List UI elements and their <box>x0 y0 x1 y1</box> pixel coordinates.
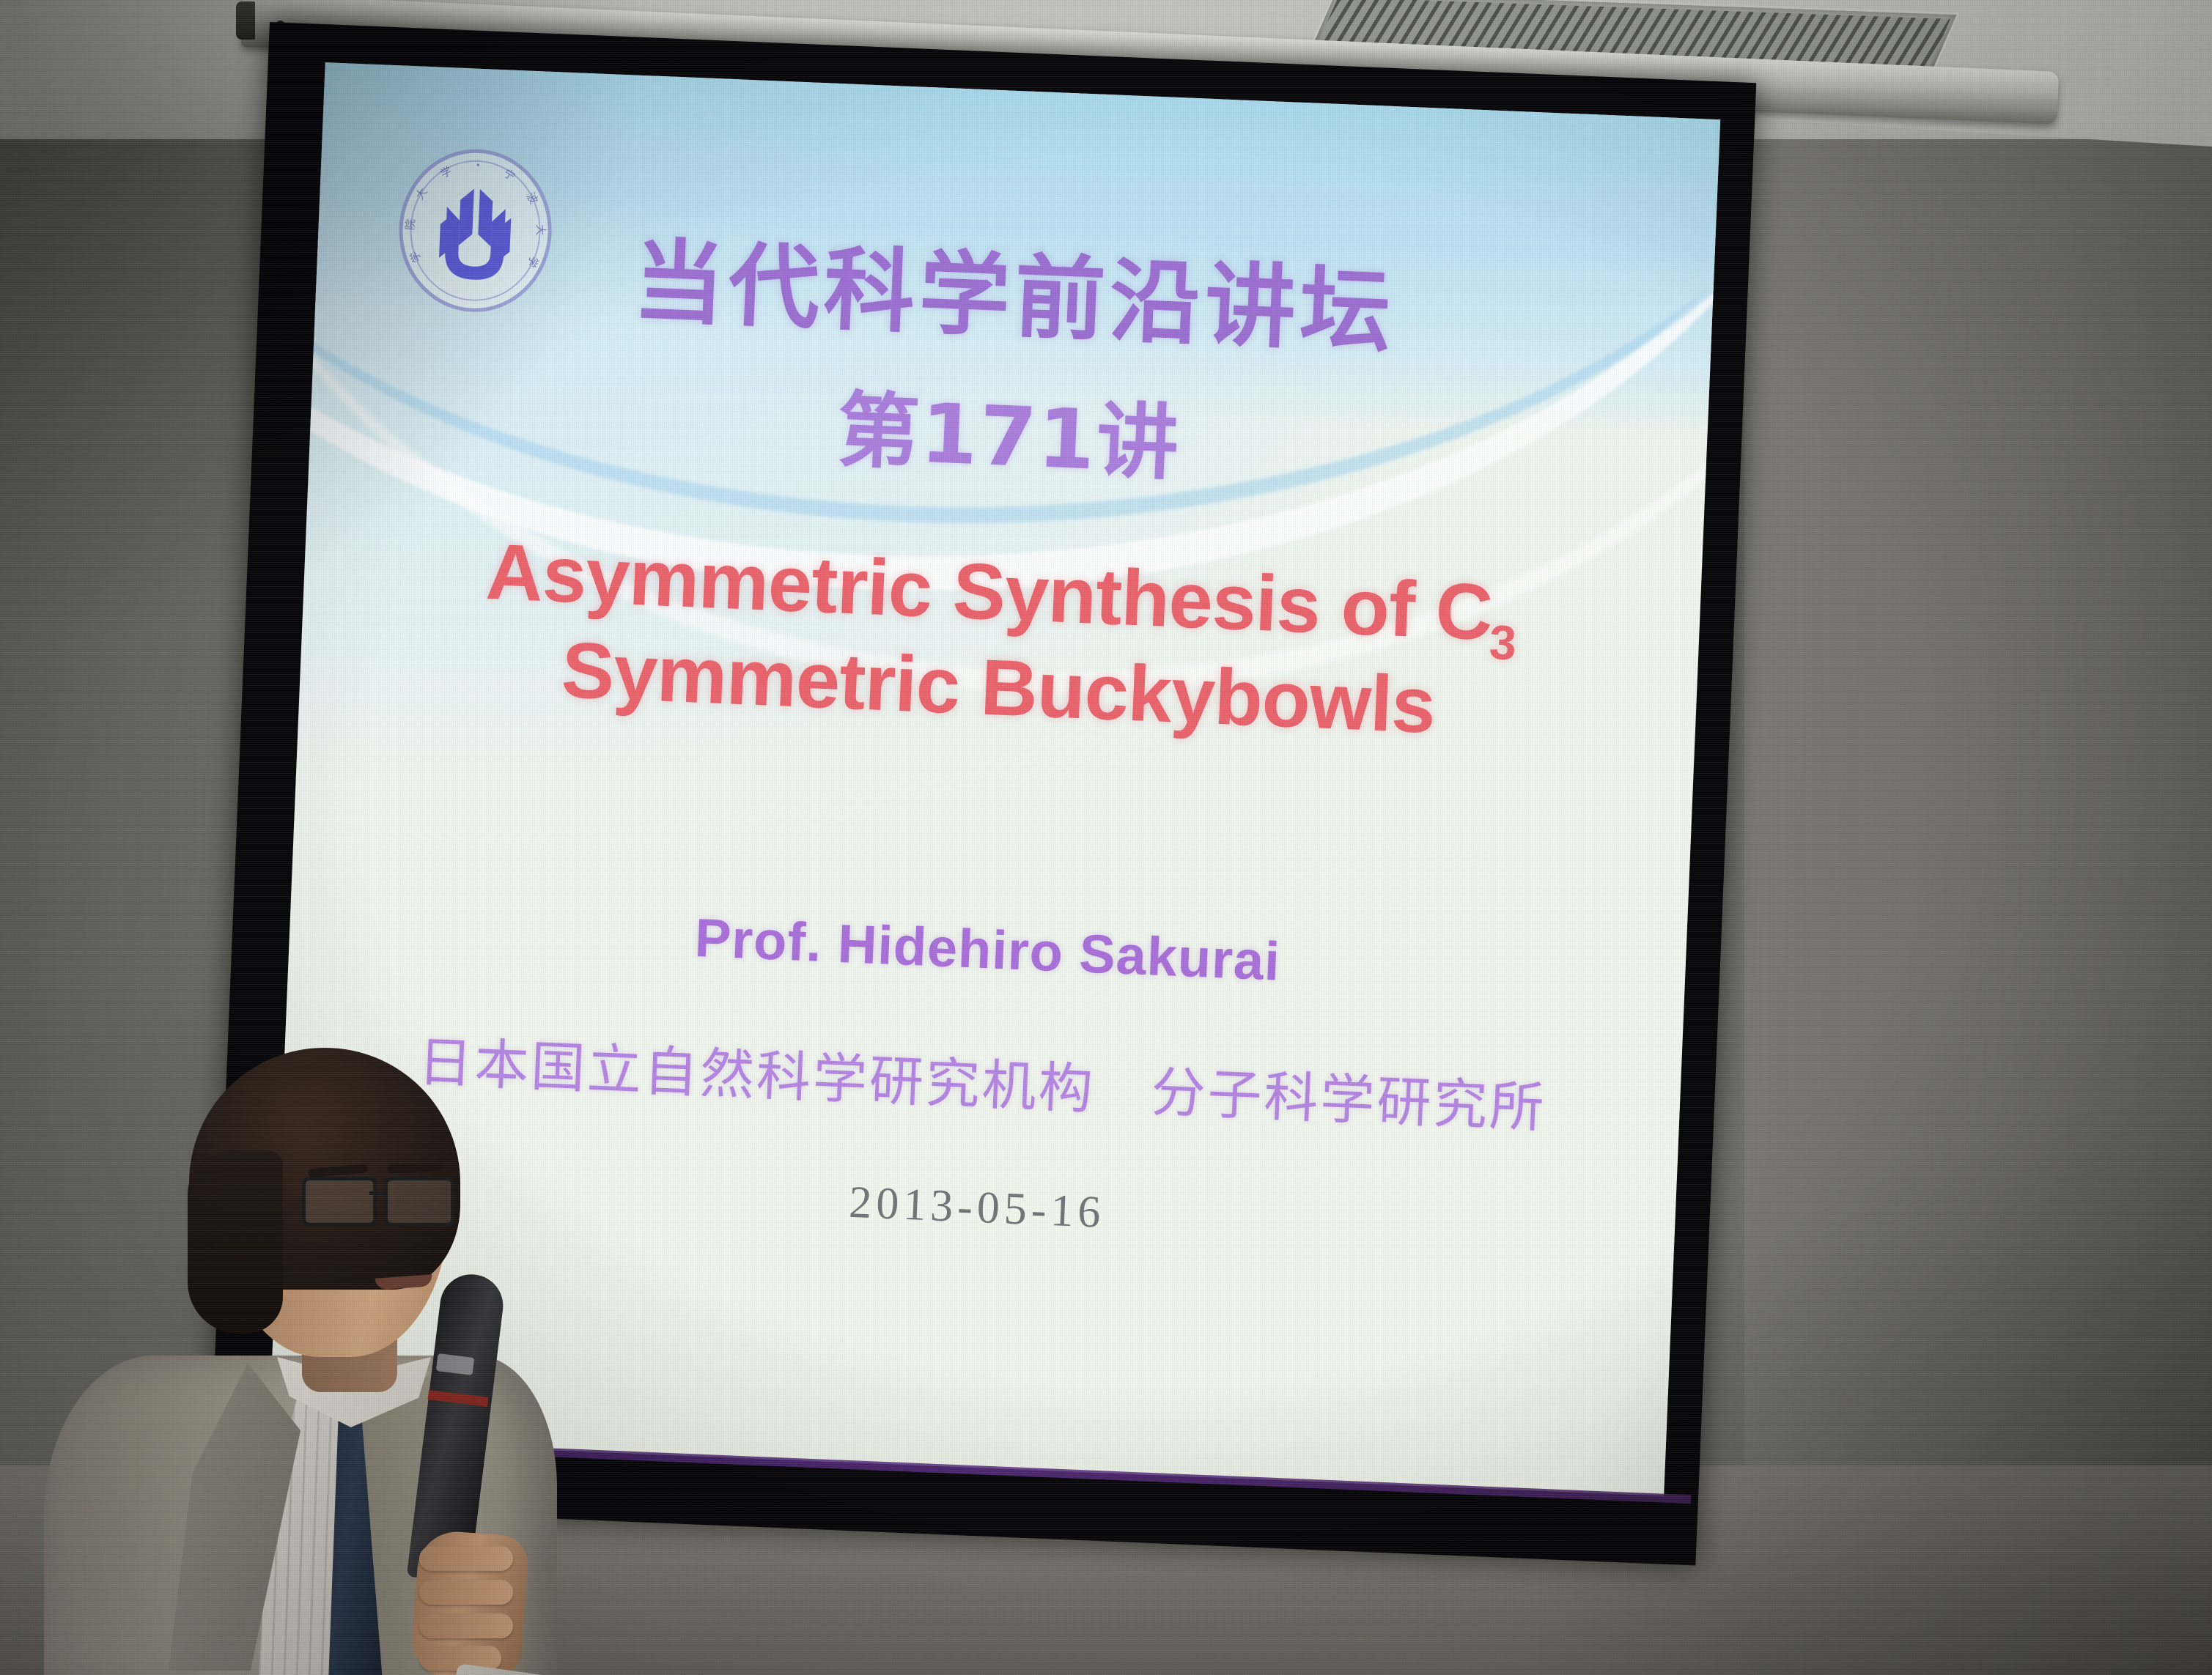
roller-end-cap <box>236 1 255 40</box>
screenshot-stage: 学院大学・宁波大学 当代科学前沿讲坛 第171讲 Asymmetric Synt… <box>0 0 2212 1675</box>
eyeglasses-icon <box>302 1177 454 1222</box>
eyeglass-bridge <box>369 1191 386 1195</box>
slide-english-title-subscript: 3 <box>1489 615 1517 670</box>
wall-right-panel <box>1744 0 2212 1675</box>
presenter-hair-sideburn <box>188 1150 283 1334</box>
presenter <box>44 1040 601 1675</box>
slide-english-title: Asymmetric Synthesis of C3 Symmetric Buc… <box>299 517 1702 763</box>
presenter-finger <box>419 1580 513 1605</box>
eyeglass-lens-left <box>302 1177 377 1227</box>
eyeglass-lens-right <box>384 1177 454 1227</box>
slide-speaker-name: Prof. Hidehiro Sakurai <box>289 890 1686 1009</box>
presenter-finger <box>419 1613 513 1638</box>
presenter-finger <box>419 1546 513 1571</box>
